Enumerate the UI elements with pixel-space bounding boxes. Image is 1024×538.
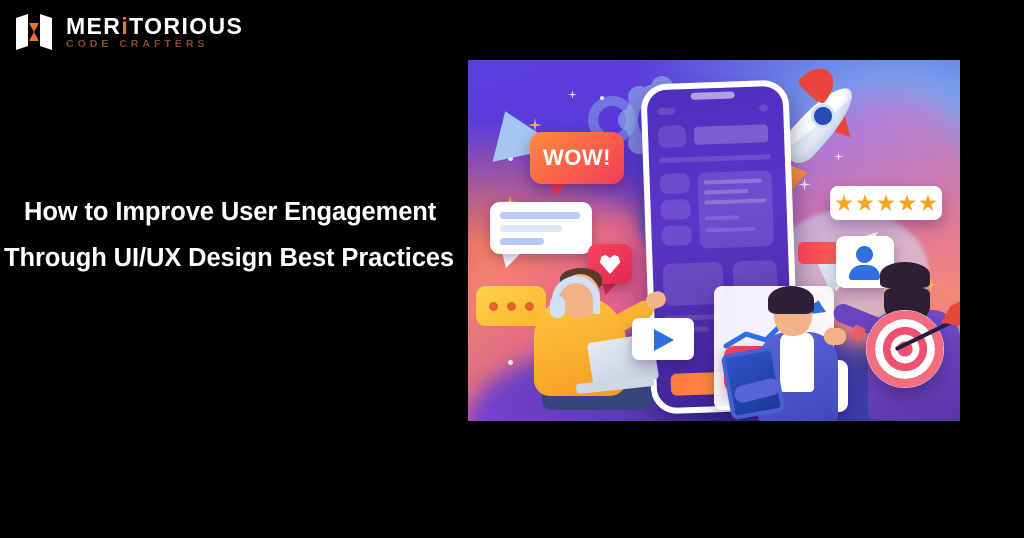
brand-name: MERiTORIOUS: [66, 15, 243, 38]
phone-ui-block: [660, 199, 691, 220]
person-tablet-shirt: [780, 332, 814, 392]
phone-ui-block: [658, 125, 687, 148]
dot-sparkle-icon: [600, 96, 604, 100]
user-avatar-body: [849, 265, 880, 280]
meritorious-m-mark-icon: [14, 12, 54, 52]
chat-bubble-card: [490, 202, 592, 254]
play-icon: [654, 329, 674, 351]
person-pointing-hair: [880, 262, 930, 288]
brand-name-accent-i: i: [121, 13, 129, 39]
typing-dots-card: [476, 286, 546, 326]
page-title-line-2: Through UI/UX Design Best Practices: [4, 235, 466, 281]
phone-ui-block: [694, 124, 769, 145]
sparkle-icon: [834, 152, 843, 161]
page-title-line-1: How to Improve User Engagement: [4, 189, 466, 235]
star-icon: [898, 194, 916, 212]
wow-speech-bubble: WOW!: [530, 132, 624, 184]
brand-wordmark: MERiTORIOUS CODE CRAFTERS: [66, 15, 243, 50]
chat-line: [500, 212, 580, 219]
phone-ui-block: [661, 225, 692, 246]
phone-ui-block: [759, 104, 768, 111]
hero-illustration: WOW!: [468, 60, 960, 421]
dot-icon: [507, 302, 516, 311]
heart-icon: [599, 255, 621, 274]
phone-notch: [691, 91, 735, 100]
chat-line: [500, 238, 544, 245]
wow-bubble-label: WOW!: [543, 145, 611, 171]
phone-ui-block: [659, 173, 690, 194]
chat-line: [500, 225, 562, 232]
dot-icon: [525, 302, 534, 311]
person-pointing-hand: [824, 328, 846, 345]
page-title: How to Improve User Engagement Through U…: [4, 189, 466, 281]
brand-name-part2: TORIOUS: [129, 13, 243, 39]
brand-tagline: CODE CRAFTERS: [66, 39, 243, 50]
star-icon: [856, 194, 874, 212]
headphone-earcup: [550, 296, 565, 318]
phone-ui-block: [657, 107, 675, 115]
target-bullseye-icon: [866, 310, 944, 388]
phone-ui-block: [659, 154, 771, 163]
star-rating-card: [830, 186, 942, 220]
sparkle-icon: [568, 90, 577, 99]
brand-name-part1: MER: [66, 13, 121, 39]
dot-sparkle-icon: [508, 360, 513, 365]
dot-icon: [489, 302, 498, 311]
star-icon: [835, 194, 853, 212]
star-icon: [877, 194, 895, 212]
person-tablet-hair-front: [768, 286, 814, 314]
star-icon: [919, 194, 937, 212]
user-avatar-icon: [856, 246, 873, 263]
brand-logo[interactable]: MERiTORIOUS CODE CRAFTERS: [14, 12, 243, 52]
